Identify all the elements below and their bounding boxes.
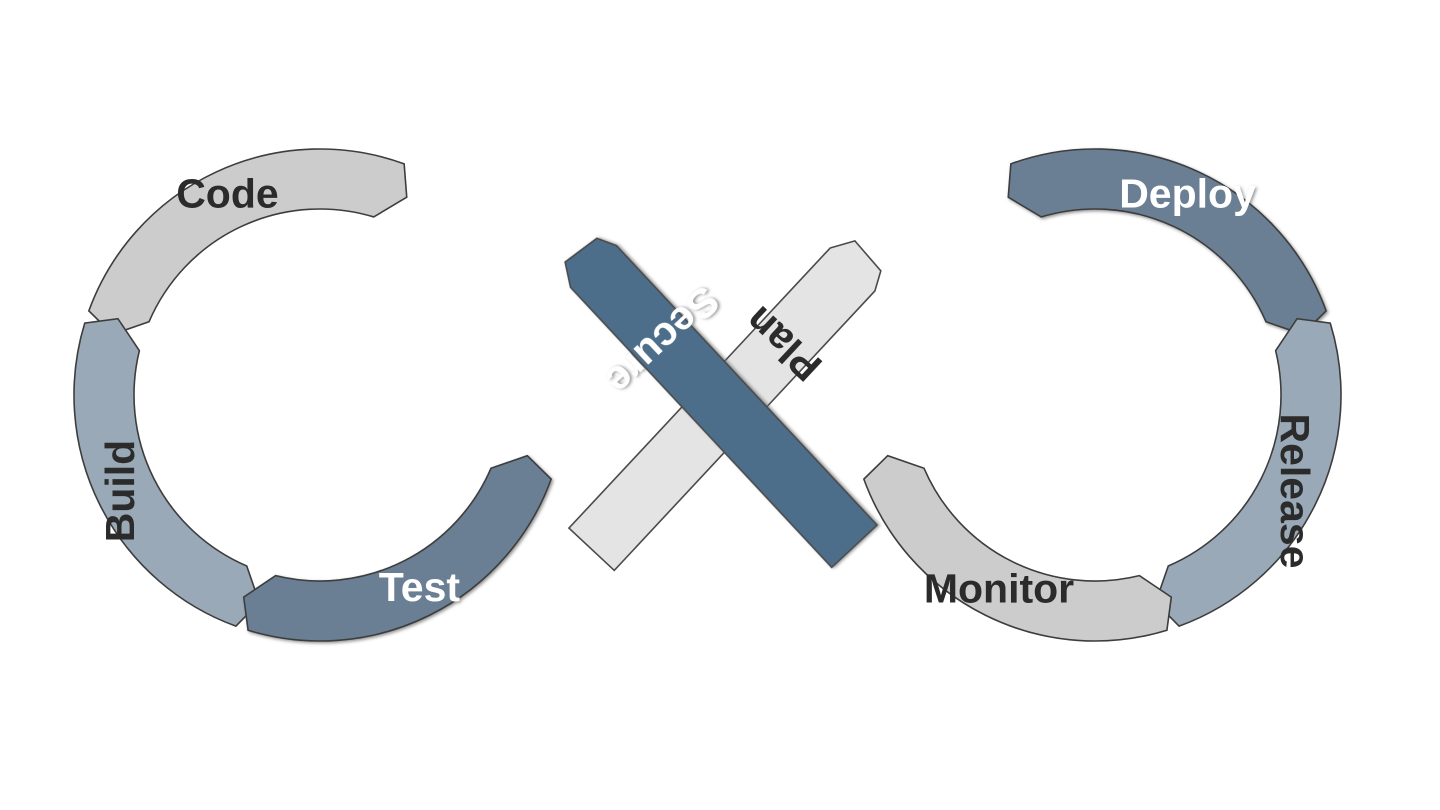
segment-release[interactable]: Release — [1156, 319, 1341, 626]
segment-label-release: Release — [1272, 413, 1318, 568]
segment-label-deploy: Deploy — [1119, 170, 1256, 216]
segment-code[interactable]: Code — [89, 149, 407, 334]
cross-bars: PlanSecure — [528, 203, 904, 593]
segment-deploy[interactable]: Deploy — [1008, 149, 1326, 334]
diagram-canvas: CodeBuildTest DeployReleaseMonitor PlanS… — [0, 0, 1440, 810]
right-loop: DeployReleaseMonitor — [864, 149, 1341, 641]
segment-label-monitor: Monitor — [924, 566, 1074, 612]
segment-monitor[interactable]: Monitor — [864, 456, 1171, 641]
segment-label-test: Test — [379, 564, 461, 610]
segment-label-code: Code — [176, 170, 279, 216]
left-loop: CodeBuildTest — [74, 149, 551, 641]
devops-infinity-diagram: CodeBuildTest DeployReleaseMonitor PlanS… — [0, 0, 1440, 810]
segment-build[interactable]: Build — [74, 319, 259, 626]
segment-shape-monitor — [864, 456, 1171, 641]
segment-label-build: Build — [97, 440, 143, 542]
segment-test[interactable]: Test — [244, 456, 551, 641]
segment-shape-test — [244, 456, 551, 641]
